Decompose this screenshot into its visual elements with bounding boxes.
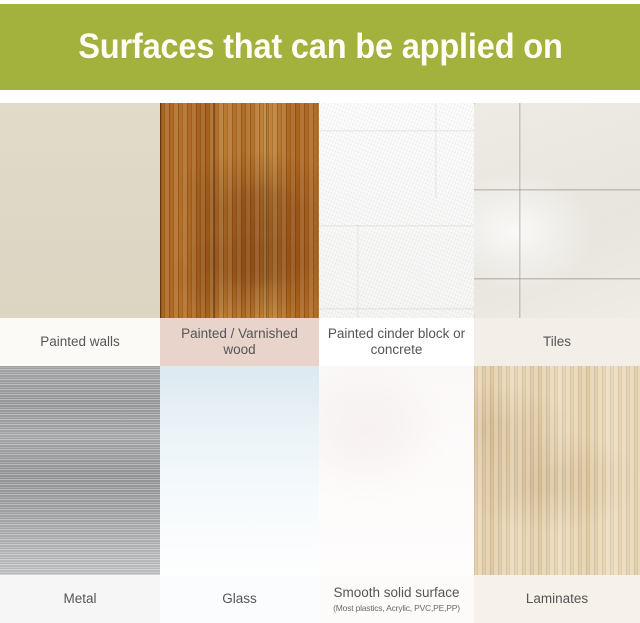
brushed-metal-swatch [0,366,160,575]
marble-tiles-swatch [474,103,640,318]
painted-wall-swatch [0,103,160,318]
surface-cell-tiles: Tiles [474,103,640,366]
surface-cell-painted-varnished-wood: Painted / Varnished wood [160,103,319,366]
header-banner: Surfaces that can be applied on [0,4,640,90]
surface-cell-metal: Metal [0,366,160,623]
surface-label: Painted / Varnished wood [166,326,313,358]
surface-caption: Painted / Varnished wood [160,318,319,366]
surface-sublabel: (Most plastics, Acrylic, PVC,PE,PP) [333,603,460,614]
surface-label: Metal [63,591,96,607]
surfaces-infographic: Surfaces that can be applied on Painted … [0,0,640,623]
surface-cell-glass: Glass [160,366,319,623]
surface-cell-laminates: Laminates [474,366,640,623]
header-divider [0,90,640,103]
surface-label: Laminates [526,591,588,607]
surface-caption: Painted walls [0,318,160,366]
page-title: Surfaces that can be applied on [78,27,562,67]
laminate-wood-swatch [474,366,640,575]
surface-cell-painted-walls: Painted walls [0,103,160,366]
surface-caption: Smooth solid surface (Most plastics, Acr… [319,575,474,623]
surface-caption: Metal [0,575,160,623]
surface-label: Glass [222,591,257,607]
surface-label: Painted cinder block or concrete [325,326,468,358]
glass-swatch [160,366,319,575]
surface-label: Smooth solid surface [333,585,459,601]
surface-caption: Glass [160,575,319,623]
surface-caption: Painted cinder block or concrete [319,318,474,366]
surface-label: Tiles [543,334,571,350]
painted-cinder-block-swatch [319,103,474,318]
surface-cell-painted-cinder-block: Painted cinder block or concrete [319,103,474,366]
surface-label: Painted walls [40,334,120,350]
surface-cell-smooth-solid-surface: Smooth solid surface (Most plastics, Acr… [319,366,474,623]
smooth-solid-surface-swatch [319,366,474,575]
surface-caption: Laminates [474,575,640,623]
surface-caption: Tiles [474,318,640,366]
varnished-wood-swatch [160,103,319,318]
surface-grid: Painted walls Painted / Varnished wood P… [0,103,640,623]
